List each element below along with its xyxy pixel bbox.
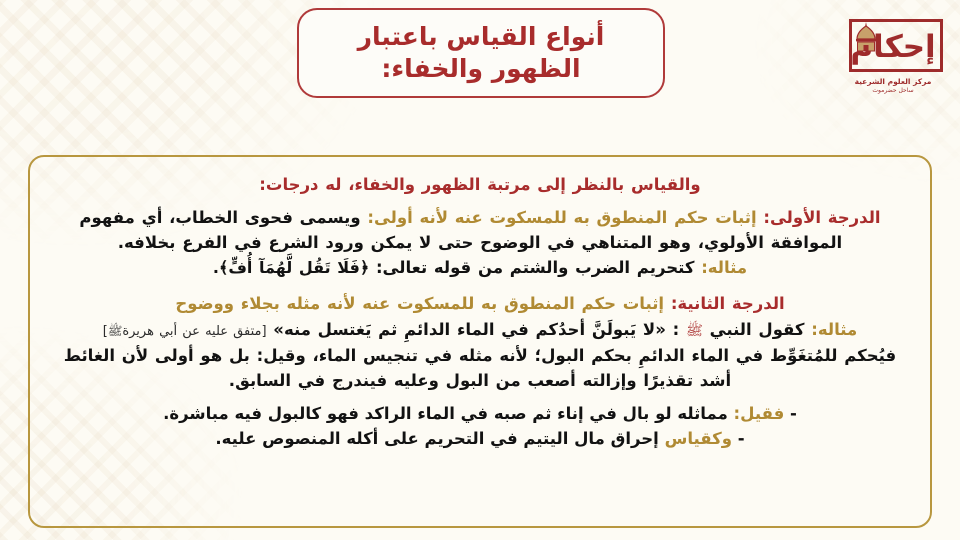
degree1-body-line: الموافقة الأولوي، وهو المتناهي في الوضوح… bbox=[58, 230, 902, 255]
degree1-heading-line: الدرجة الأولى: إثبات حكم المنطوق به للمس… bbox=[58, 205, 902, 230]
degree2-example-lead: كقول النبي bbox=[710, 320, 805, 339]
logo-mark: إحكام bbox=[841, 16, 945, 74]
degree2-label: الدرجة الثانية: bbox=[671, 294, 785, 313]
degree1-example-label: مثاله: bbox=[701, 258, 747, 277]
logo-subtitle-secondary: ساحل حضرموت bbox=[872, 87, 913, 94]
degree1-definition: إثبات حكم المنطوق به للمسكوت عنه لأنه أو… bbox=[367, 208, 756, 227]
degree1-label: الدرجة الأولى: bbox=[763, 208, 880, 227]
logo-subtitle: مركز العلوم الشرعية bbox=[855, 77, 932, 87]
bullet-2-dash: - bbox=[738, 429, 745, 448]
degree1-quran-verse: ﴿فَلَا تَقُل لَّهُمَآ أُفٍّ﴾. bbox=[213, 258, 369, 277]
degree2-explanation-1: فيُحكم للمُتغَوِّط في الماء الدائمِ بحكم… bbox=[64, 346, 896, 365]
hadith-source-open: [متفق عليه عن أبي هريرة bbox=[122, 324, 266, 339]
bullet-2-text: إحراق مال اليتيم في التحريم على أكله الم… bbox=[215, 429, 658, 448]
degree2-explanation-line-1: فيُحكم للمُتغَوِّط في الماء الدائمِ بحكم… bbox=[58, 343, 902, 368]
bullet-1-dash: - bbox=[790, 404, 797, 423]
spacer bbox=[58, 282, 902, 291]
brand-logo: إحكام مركز العلوم الشرعية ساحل حضرموت bbox=[838, 16, 948, 104]
degree1-example-line: مثاله: كتحريم الضرب والشتم من قوله تعالى… bbox=[58, 255, 902, 280]
degree2-definition: إثبات حكم المنطوق به للمسكوت عنه لأنه مث… bbox=[175, 294, 664, 313]
degree2-hadith-text: «لا يَبولَنَّ أحدُكم في الماء الدائمِ ثم… bbox=[273, 320, 666, 339]
bullet-1-label: فقيل: bbox=[734, 404, 785, 423]
spacer bbox=[58, 394, 902, 401]
slide-title-box: أنواع القياس باعتبار الظهور والخفاء: bbox=[297, 8, 665, 98]
bullet-item-2: - وكقياس إحراق مال اليتيم في التحريم على… bbox=[58, 426, 902, 451]
spacer bbox=[58, 198, 902, 205]
companion-salutation-icon: ﷺ bbox=[108, 324, 123, 338]
intro-text: والقياس بالنظر إلى مرتبة الظهور والخفاء،… bbox=[259, 175, 700, 194]
degree2-explanation-2: أشد تقذيرًا وإزالته أصعب من البول وعليه … bbox=[229, 371, 731, 390]
page-title: أنواع القياس باعتبار الظهور والخفاء: bbox=[299, 21, 663, 85]
degree2-explanation-line-2: أشد تقذيرًا وإزالته أصعب من البول وعليه … bbox=[58, 368, 902, 393]
bullet-item-1: - فقيل: مماثله لو بال في إناء ثم صبه في … bbox=[58, 401, 902, 426]
degree2-example-line: مثاله: كقول النبي ﷺ : «لا يَبولَنَّ أحدُ… bbox=[58, 317, 902, 342]
degree2-colon: : bbox=[673, 320, 680, 339]
degree1-body-part2: الموافقة الأولوي، وهو المتناهي في الوضوح… bbox=[118, 233, 842, 252]
degree1-body-part1: ويسمى فحوى الخطاب، أي مفهوم bbox=[79, 208, 360, 227]
lesson-content: والقياس بالنظر إلى مرتبة الظهور والخفاء،… bbox=[40, 162, 920, 522]
bullet-1-text: مماثله لو بال في إناء ثم صبه في الماء ال… bbox=[163, 404, 728, 423]
prophet-salutation-icon: ﷺ bbox=[686, 323, 703, 339]
intro-line: والقياس بالنظر إلى مرتبة الظهور والخفاء،… bbox=[58, 172, 902, 197]
bullet-2-label: وكقياس bbox=[665, 429, 732, 448]
degree2-heading-line: الدرجة الثانية: إثبات حكم المنطوق به للم… bbox=[58, 291, 902, 316]
mosque-dome-icon bbox=[853, 22, 879, 52]
degree2-example-label: مثاله: bbox=[811, 320, 857, 339]
degree1-example-text: كتحريم الضرب والشتم من قوله تعالى: bbox=[376, 258, 694, 277]
